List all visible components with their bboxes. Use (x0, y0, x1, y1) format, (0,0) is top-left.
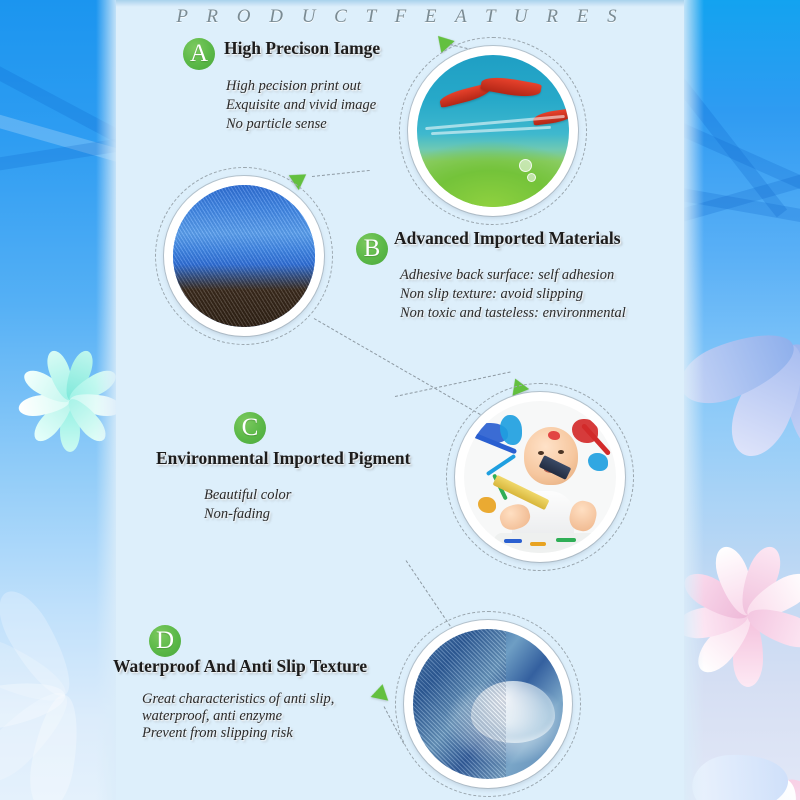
left-decorative-panel (0, 0, 122, 800)
feature-line-b-2: Non slip texture: avoid slipping (400, 285, 583, 304)
water-droplet-texture-photo (404, 620, 572, 788)
feature-line-c-2: Non-fading (204, 505, 270, 524)
feature-badge-a: A (183, 38, 215, 70)
feature-badge-d: D (149, 625, 181, 657)
feature-badge-c: C (234, 412, 266, 444)
baby-paint-art (464, 401, 616, 553)
right-bottom-flower-motif (708, 700, 800, 800)
blue-fabric-texture-photo (164, 176, 324, 336)
right-lavender-flower-motif (698, 250, 800, 440)
feature-heading-c: Environmental Imported Pigment (156, 448, 410, 469)
droplet-texture-art (413, 629, 563, 779)
photo-d-image (413, 629, 563, 779)
photo-a-image (417, 55, 569, 207)
product-features-poster: P R O D U C T F E A T U R E S A High Pre… (0, 0, 800, 800)
baby-painting-photo (455, 392, 625, 562)
fabric-weave-art (173, 185, 315, 327)
koi-fish-lily-pad-photo (408, 46, 578, 216)
feature-line-a-3: No particle sense (226, 115, 327, 134)
feature-line-c-1: Beautiful color (204, 486, 291, 505)
photo-b-image (173, 185, 315, 327)
feature-line-a-2: Exquisite and vivid image (226, 96, 376, 115)
feature-heading-a: High Precison Iamge (224, 38, 380, 59)
feature-line-d-3: Prevent from slipping risk (142, 724, 293, 743)
feature-line-b-3: Non toxic and tasteless: environmental (400, 304, 626, 323)
page-title: P R O D U C T F E A T U R E S (116, 6, 684, 28)
photo-c-image (464, 401, 616, 553)
feature-heading-b: Advanced Imported Materials (394, 228, 621, 249)
content-area: P R O D U C T F E A T U R E S A High Pre… (116, 0, 684, 800)
feature-line-a-1: High pecision print out (226, 77, 361, 96)
feature-badge-b: B (356, 233, 388, 265)
feature-heading-d: Waterproof And Anti Slip Texture (113, 656, 367, 677)
koi-water-art (417, 55, 569, 207)
arrow-to-feature-d (371, 682, 392, 700)
feature-line-b-1: Adhesive back surface: self adhesion (400, 266, 614, 285)
right-decorative-panel (678, 0, 800, 800)
